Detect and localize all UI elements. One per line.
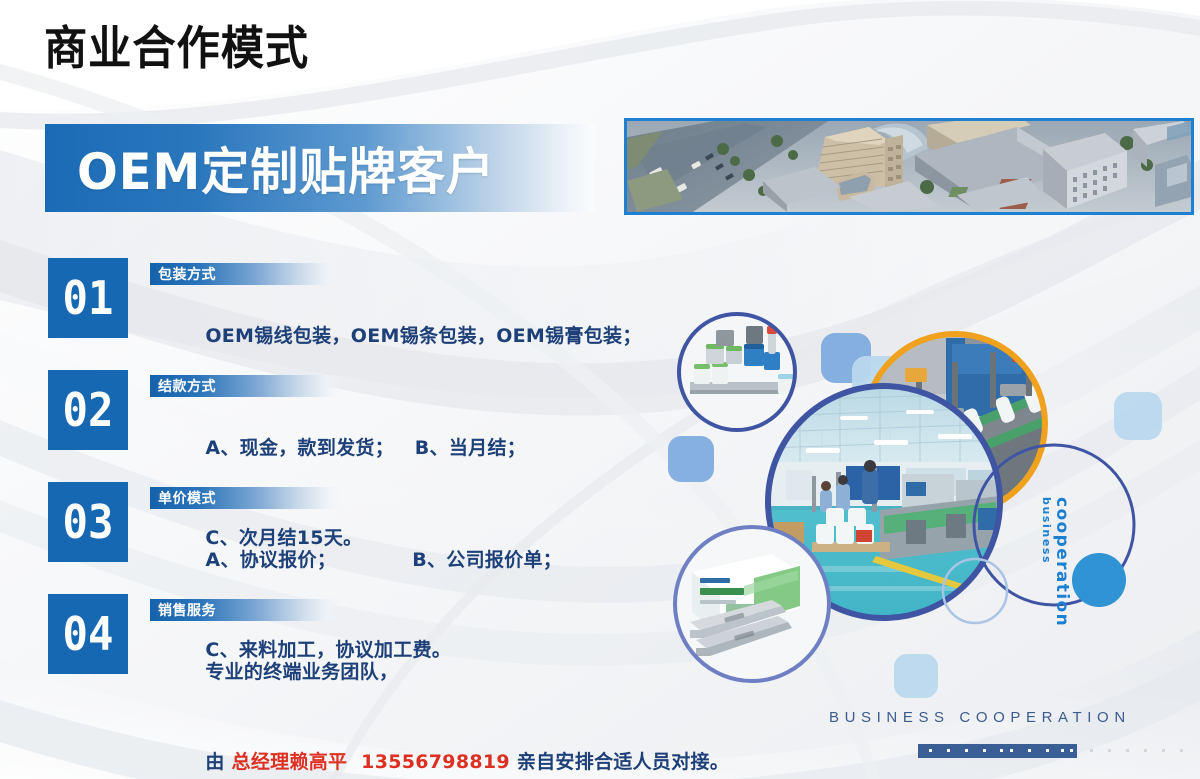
item-line: OEM锡线包装，OEM锡条包装，OEM锡膏包装；: [150, 291, 642, 381]
item-badge: 结款方式: [150, 375, 340, 397]
item-lines: 专业的终端业务团队， 由 总经理赖高平 13556798819 亲自安排合适人员…: [150, 627, 729, 779]
header-campus-photo: [624, 118, 1194, 215]
item-number-box: 01: [48, 258, 128, 338]
item-line-span: A、协议报价； B、公司报价单；: [205, 549, 562, 571]
item-number-box: 02: [48, 370, 128, 450]
footer-caption: BUSINESS COOPERATION: [829, 709, 1131, 726]
item-line-span: OEM锡线包装，OEM锡条包装，OEM锡膏包装；: [205, 325, 641, 347]
vertical-label-cooperation: cooperation: [1052, 497, 1072, 627]
oem-banner: OEM定制贴牌客户: [45, 124, 595, 212]
item-number: 03: [63, 499, 114, 545]
item-number: 01: [63, 275, 114, 321]
item-line-span-suffix: 亲自安排合适人员对接。: [510, 751, 729, 773]
item-line-span-highlight: 总经理赖高平 13556798819: [232, 751, 510, 773]
item-badge: 包装方式: [150, 263, 340, 285]
item-number-box: 04: [48, 594, 128, 674]
oem-banner-title: OEM定制贴牌客户: [77, 132, 495, 204]
item-badge: 销售服务: [150, 599, 340, 621]
item-number-box: 03: [48, 482, 128, 562]
item-line-span-prefix: 由: [205, 751, 231, 773]
item-line-span: A、现金，款到发货； B、当月结；: [205, 437, 526, 459]
page-title: 商业合作模式: [44, 25, 309, 71]
item-line: A、现金，款到发货； B、当月结；: [150, 403, 526, 493]
item-line: 由 总经理赖高平 13556798819 亲自安排合适人员对接。: [150, 717, 729, 779]
footer-dot-bar: [918, 744, 1077, 758]
item-badge-label: 结款方式: [158, 376, 216, 396]
item-line: 专业的终端业务团队，: [150, 627, 729, 717]
item-line: A、协议报价； B、公司报价单；: [150, 515, 562, 605]
item-badge-label: 销售服务: [158, 600, 216, 620]
item-badge-label: 包装方式: [158, 264, 216, 284]
item-badge: 单价模式: [150, 487, 340, 509]
item-number: 04: [63, 611, 114, 657]
item-lines: OEM锡线包装，OEM锡条包装，OEM锡膏包装；: [150, 291, 642, 381]
poster-root: 商业合作模式 OEM定制贴牌客户: [0, 0, 1200, 779]
item-line-span: 专业的终端业务团队，: [205, 661, 398, 683]
item-badge-label: 单价模式: [158, 488, 216, 508]
item-number: 02: [63, 387, 114, 433]
